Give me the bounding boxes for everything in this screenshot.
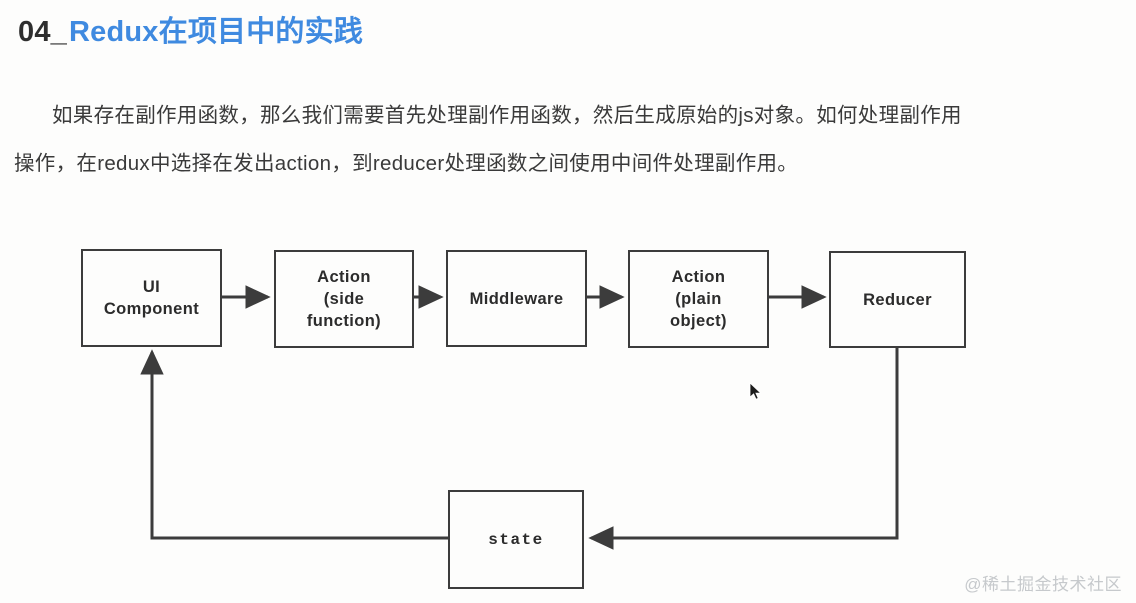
node-action-plain-object[interactable]: Action (plain object) bbox=[628, 250, 769, 348]
node-action-plain-line-2: (plain bbox=[670, 288, 727, 310]
node-action-side-line-2: (side bbox=[307, 288, 381, 310]
node-state-label: state bbox=[488, 529, 544, 551]
mouse-cursor-icon bbox=[749, 382, 765, 402]
node-ui-component-line-1: UI bbox=[104, 276, 199, 298]
node-state[interactable]: state bbox=[448, 490, 584, 589]
edge-reducer-to-state bbox=[591, 348, 897, 538]
node-reducer[interactable]: Reducer bbox=[829, 251, 966, 348]
node-action-side-line-1: Action bbox=[307, 266, 381, 288]
node-action-plain-line-1: Action bbox=[670, 266, 727, 288]
watermark: @稀土掘金技术社区 bbox=[964, 570, 1122, 595]
node-ui-component[interactable]: UI Component bbox=[81, 249, 222, 347]
node-action-side-function[interactable]: Action (side function) bbox=[274, 250, 414, 348]
node-action-plain-line-3: object) bbox=[670, 310, 727, 332]
node-ui-component-line-2: Component bbox=[104, 298, 199, 320]
slide-page: 04_Redux在项目中的实践 如果存在副作用函数，那么我们需要首先处理副作用函… bbox=[0, 0, 1136, 603]
node-middleware-label: Middleware bbox=[470, 288, 564, 310]
node-reducer-label: Reducer bbox=[863, 289, 932, 311]
node-action-side-line-3: function) bbox=[307, 310, 381, 332]
redux-flow-diagram: UI Component Action (side function) Midd… bbox=[0, 0, 1136, 603]
edge-state-to-ui bbox=[152, 352, 448, 538]
node-middleware[interactable]: Middleware bbox=[446, 250, 587, 347]
